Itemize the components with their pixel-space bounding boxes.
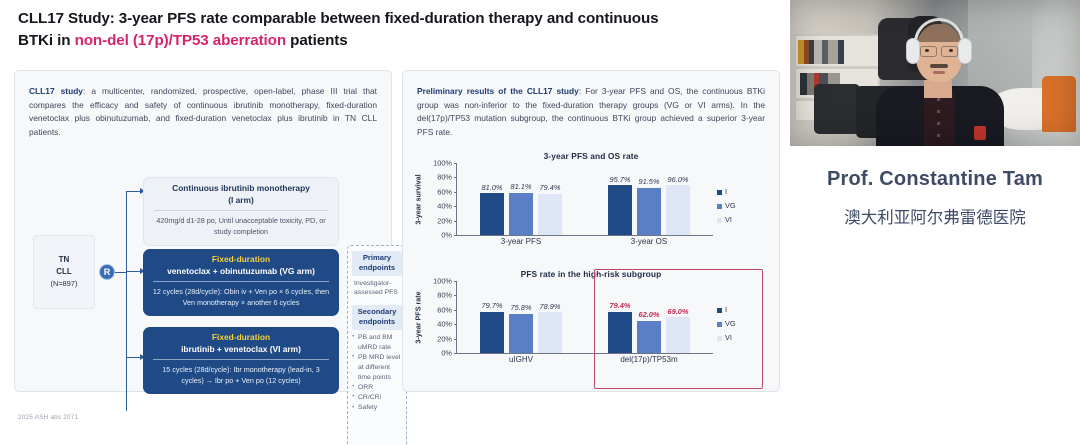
ytick: 20% [437, 216, 452, 225]
chart-pfs-os-xlabels: 3-year PFS 3-year OS [457, 237, 713, 246]
population-line-3: (N=897) [51, 278, 78, 289]
schema-branch-arrow-i [126, 191, 144, 192]
arm-i-heading: Continuous ibrutinib monotherapy (I arm) [144, 178, 338, 210]
bar-pfs-I: 81.0% [480, 193, 504, 235]
legend-item-VI: VI [717, 331, 763, 345]
chart-high-risk-plot: 3-year PFS rate 100% 80% 60% 40% 20% 0% [413, 281, 769, 373]
chart-high-risk-legend: I VG VI [717, 303, 763, 345]
ytick: 100% [433, 277, 452, 286]
xtick: uIGHV [457, 355, 585, 364]
arm-card-vg: Fixed-duration venetoclax + obinutuzumab… [143, 249, 339, 316]
chart-high-risk-xlabels: uIGHV del(17p)/TP53m [457, 355, 713, 364]
bar-os-VG: 91.5% [637, 188, 661, 235]
arm-vi-head-main: Fixed-duration [212, 332, 270, 342]
chart-pfs-os-ylabel: 3-year survival [413, 163, 424, 235]
bar-del17p-I: 79.4% [608, 312, 632, 353]
bar-uighv-VI: 78.9% [538, 312, 562, 353]
list-item: Safety [352, 403, 402, 413]
secondary-endpoints-list: PB and BM uMRD rate PB MRD level at diff… [352, 333, 402, 413]
population-line-2: CLL [56, 266, 72, 278]
title-highlight: non-del (17p)/TP53 aberration [75, 32, 286, 49]
bar-uighv-I: 79.7% [480, 312, 504, 353]
study-description-label: CLL17 study [29, 86, 83, 96]
results-description-label: Preliminary results of the CLL17 study [417, 86, 579, 96]
bar-group-uighv: 79.7% 75.8% 78.9% [457, 281, 585, 353]
speaker-affiliation: 澳大利亚阿尔弗雷德医院 [790, 204, 1080, 228]
legend-item-VG: VG [717, 199, 763, 213]
slide-area: CLL17 Study: 3-year PFS rate comparable … [0, 0, 790, 445]
arm-vg-regimen: 12 cycles (28d/cycle): Obin iv + Ven po … [143, 282, 339, 316]
list-item: CR/CRi [352, 393, 402, 403]
chart-high-risk: PFS rate in the high-risk subgroup 3-yea… [413, 269, 769, 387]
population-box: TN CLL (N=897) [33, 235, 95, 309]
legend-item-VG: VG [717, 317, 763, 331]
primary-endpoints-text: Investigator-assessed PFS [352, 279, 402, 299]
ytick: 80% [437, 291, 452, 300]
ytick: 80% [437, 173, 452, 182]
video-vignette [790, 0, 1080, 146]
arm-vg-head-main: Fixed-duration [212, 254, 270, 264]
video-feed[interactable] [790, 0, 1080, 146]
slide-footnote: 2025 ASH abs 2071 [18, 414, 78, 421]
ytick: 60% [437, 305, 452, 314]
speaker-name: Prof. Constantine Tam [790, 168, 1080, 191]
screen-root: CLL17 Study: 3-year PFS rate comparable … [0, 0, 1080, 445]
schema-branch-arrow-vg [126, 271, 144, 272]
list-item: PB MRD level at different time points [352, 353, 402, 383]
chart-high-risk-ylabel: 3-year PFS rate [413, 281, 424, 353]
bar-group-del17p: 79.4% 62.0% 69.0% [585, 281, 713, 353]
results-description: Preliminary results of the CLL17 study: … [417, 85, 765, 139]
list-item: ORR [352, 383, 402, 393]
chart-pfs-os-xaxis [456, 235, 713, 236]
xtick: 3-year OS [585, 237, 713, 246]
chart-high-risk-yticks: 100% 80% 60% 40% 20% 0% [424, 281, 454, 353]
study-description: CLL17 study: a multicenter, randomized, … [29, 85, 377, 139]
legend-item-VI: VI [717, 213, 763, 227]
randomization-icon: R [99, 264, 115, 280]
arm-vi-head-sub: ibrutinib + venetoclax (VI arm) [149, 344, 333, 356]
arm-vi-heading: Fixed-duration ibrutinib + venetoclax (V… [143, 327, 339, 359]
arm-i-head-sub: (I arm) [228, 195, 254, 205]
bar-group-os: 95.7% 91.5% 96.0% [585, 163, 713, 235]
schema-vertical-rail [126, 191, 127, 411]
bar-os-I: 95.7% [608, 185, 632, 235]
chart-high-risk-bars: 79.7% 75.8% 78.9% 79.4% 62.0% 69.0% [457, 281, 713, 353]
trial-schema-diagram: TN CLL (N=897) R Continuous ibrutinib mo… [21, 149, 385, 385]
ytick: 100% [433, 159, 452, 168]
primary-endpoints-title: Primary endpoints [352, 251, 402, 276]
bar-del17p-VG: 62.0% [637, 321, 661, 353]
title-line-1: CLL17 Study: 3-year PFS rate comparable … [18, 10, 658, 27]
ytick: 60% [437, 187, 452, 196]
arm-card-vi: Fixed-duration ibrutinib + venetoclax (V… [143, 327, 339, 394]
legend-item-I: I [717, 185, 763, 199]
arm-vg-head-sub: venetoclax + obinutuzumab (VG arm) [149, 266, 333, 278]
study-design-panel: CLL17 study: a multicenter, randomized, … [14, 70, 392, 392]
bar-pfs-VG: 81.1% [509, 193, 533, 235]
ytick: 0% [441, 231, 452, 240]
bar-pfs-VI: 79.4% [538, 194, 562, 235]
speaker-panel: Prof. Constantine Tam 澳大利亚阿尔弗雷德医院 [790, 0, 1080, 445]
bar-del17p-VI: 69.0% [666, 317, 690, 353]
page-title: CLL17 Study: 3-year PFS rate comparable … [18, 8, 770, 51]
bar-group-pfs: 81.0% 81.1% 79.4% [457, 163, 585, 235]
chart-pfs-os-bars: 81.0% 81.1% 79.4% 95.7% 91.5% 96.0% [457, 163, 713, 235]
arm-vg-heading: Fixed-duration venetoclax + obinutuzumab… [143, 249, 339, 281]
schema-branch-arrow-vi [126, 357, 144, 358]
xtick: del(17p)/TP53m [585, 355, 713, 364]
xtick: 3-year PFS [457, 237, 585, 246]
chart-pfs-os-title: 3-year PFS and OS rate [413, 151, 769, 161]
ytick: 0% [441, 349, 452, 358]
chart-pfs-os-legend: I VG VI [717, 185, 763, 227]
secondary-endpoints-title: Secondary endpoints [352, 305, 402, 330]
arm-i-head-main: Continuous ibrutinib monotherapy [172, 183, 310, 193]
chart-pfs-os-yticks: 100% 80% 60% 40% 20% 0% [424, 163, 454, 235]
arm-i-regimen: 420mg/d d1-28 po, Until unacceptable tox… [144, 211, 338, 245]
chart-pfs-os: 3-year PFS and OS rate 3-year survival 1… [413, 151, 769, 263]
results-panel: Preliminary results of the CLL17 study: … [402, 70, 780, 392]
title-line-2-prefix: BTKi in [18, 32, 75, 49]
chart-high-risk-title: PFS rate in the high-risk subgroup [413, 269, 769, 279]
chart-high-risk-xaxis [456, 353, 713, 354]
list-item: PB and BM uMRD rate [352, 333, 402, 353]
legend-item-I: I [717, 303, 763, 317]
ytick: 40% [437, 320, 452, 329]
arm-vi-regimen: 15 cycles (28d/cycle): Ibr monotherapy (… [143, 360, 339, 394]
endpoints-box: Primary endpoints Investigator-assessed … [347, 245, 407, 445]
title-line-2-suffix: patients [286, 32, 348, 49]
bar-os-VI: 96.0% [666, 185, 690, 235]
bar-uighv-VG: 75.8% [509, 314, 533, 353]
population-line-1: TN [59, 254, 70, 266]
arm-card-ibrutinib: Continuous ibrutinib monotherapy (I arm)… [143, 177, 339, 246]
chart-pfs-os-plot: 3-year survival 100% 80% 60% 40% 20% 0% [413, 163, 769, 255]
ytick: 20% [437, 334, 452, 343]
ytick: 40% [437, 202, 452, 211]
